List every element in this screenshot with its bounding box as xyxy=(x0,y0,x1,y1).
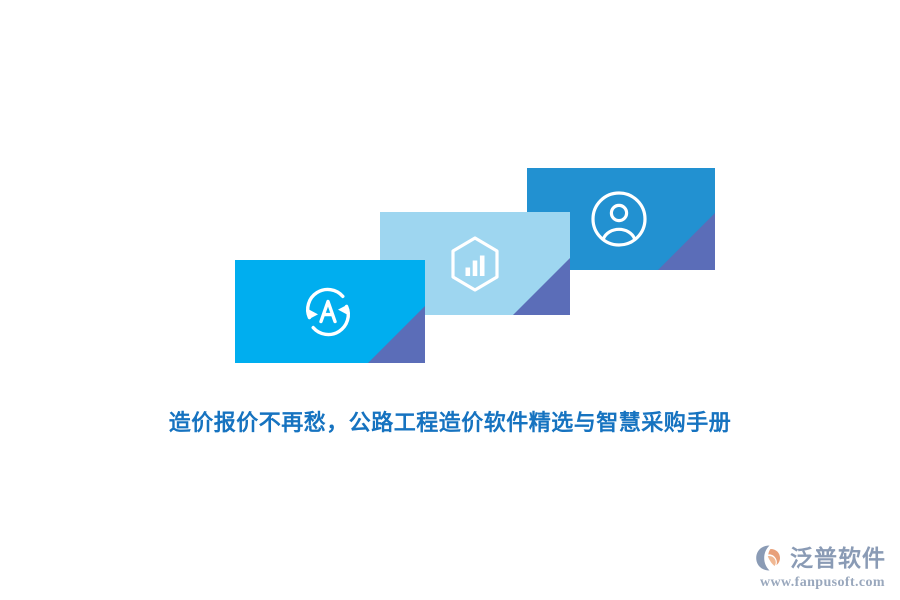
card-cyan-corner-fold xyxy=(368,306,425,363)
brand-name: 泛普软件 xyxy=(790,547,886,570)
brand-logo-row: 泛普软件 xyxy=(755,543,886,573)
brand-url: www.fanpusoft.com xyxy=(760,576,885,590)
card-stack xyxy=(0,0,900,600)
brand-logo: 泛普软件 www.fanpusoft.com xyxy=(755,543,886,590)
card-cyan xyxy=(235,260,425,363)
fanpu-swoosh-icon xyxy=(755,543,785,573)
card-light-blue-corner-fold xyxy=(513,258,570,315)
banner-canvas: 造价报价不再愁，公路工程造价软件精选与智慧采购手册 泛普软件 www.fanpu… xyxy=(0,0,900,600)
card-blue-corner-fold xyxy=(658,213,715,270)
page-title: 造价报价不再愁，公路工程造价软件精选与智慧采购手册 xyxy=(0,406,900,440)
